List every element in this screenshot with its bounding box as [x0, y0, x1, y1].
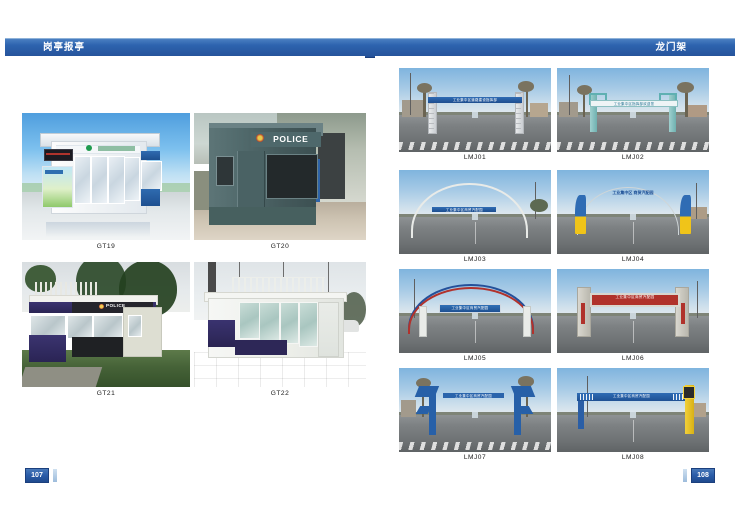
gantry-sign-text: 工业集中区商贸汽配园 [432, 207, 496, 212]
photo-lmj07[interactable]: 工业集中区商贸汽配园 [399, 368, 551, 452]
lane-marking [475, 222, 476, 244]
caption-gt20: GT20 [194, 243, 366, 250]
roadside-building [688, 105, 708, 117]
footer-rule-left [53, 469, 57, 482]
header-band: 岗亭报亭 龙门架 [5, 38, 735, 58]
crane-cable [283, 262, 284, 278]
gantry-stripe-right [673, 394, 684, 400]
utility-pole [697, 281, 698, 318]
gantry-beam: 工业集中区道路建设指挥部 [428, 97, 522, 102]
gantry-post-accent-left [581, 303, 585, 325]
photo-gt22[interactable] [194, 262, 366, 387]
kiosk-glass [259, 302, 280, 342]
signal-head-icon [683, 386, 695, 398]
caption-lmj03: LMJ03 [399, 256, 551, 263]
right-page-header-title: 龙门架 [655, 39, 687, 57]
pathway [22, 367, 103, 387]
left-page-header-title: 岗亭报亭 [43, 39, 85, 57]
photo-image-lmj08: 工业集中区商贸汽配园 [557, 368, 709, 452]
caption-lmj04: LMJ04 [557, 256, 709, 263]
kiosk-blue-base [141, 189, 159, 206]
kiosk-dark-base [72, 337, 122, 357]
photo-lmj01[interactable]: 工业集中区道路建设指挥部 [399, 68, 551, 152]
caption-lmj06: LMJ06 [557, 355, 709, 362]
photo-lmj08[interactable]: 工业集中区商贸汽配园 [557, 368, 709, 452]
roadside-building [401, 400, 416, 417]
kiosk-glass [67, 315, 93, 340]
booth-sign-text: POLICE [273, 134, 308, 144]
catalog-spread: 岗亭报亭 龙门架 GT19 [0, 0, 740, 506]
footer-rule-right [683, 469, 687, 482]
lane-marking [633, 222, 634, 244]
roadside-building [530, 103, 548, 116]
gantry-pylon-left [417, 386, 437, 435]
gantry-sign-text: 工业集中区 商贸汽配园 [593, 190, 672, 198]
roadside-building [402, 100, 423, 117]
kiosk-purple-base [235, 340, 287, 355]
gantry-post-right [523, 306, 531, 337]
caption-lmj02: LMJ02 [557, 154, 709, 161]
vanishing-point [472, 112, 478, 119]
ground-reflection [46, 222, 150, 237]
gantry-wing-right [680, 195, 691, 234]
gantry-beam: 工业集中区商贸汽配园 [432, 207, 496, 212]
kiosk-blue-sign [141, 151, 159, 160]
caption-gt22: GT22 [194, 390, 366, 397]
kiosk-purple-panel [208, 320, 236, 348]
kiosk-glass [91, 156, 108, 204]
left-page-number: 107 [25, 468, 49, 483]
utility-pole [410, 73, 411, 115]
kiosk-purple-base [29, 335, 66, 363]
gantry-beam: 工业集中区商贸汽配园 [590, 293, 679, 307]
photo-image-lmj03: 工业集中区商贸汽配园 [399, 170, 551, 254]
kiosk-logo-text [98, 146, 135, 151]
crosswalk [399, 442, 551, 450]
photo-image-lmj04: 工业集中区 商贸汽配园 [557, 170, 709, 254]
photo-image-lmj07: 工业集中区商贸汽配园 [399, 368, 551, 452]
gantry-beam: 工业集中区商贸汽配园 [443, 393, 504, 398]
caption-lmj01: LMJ01 [399, 154, 551, 161]
vanishing-point [630, 313, 636, 320]
photo-gt20[interactable]: POLICE [194, 113, 366, 240]
photo-lmj05[interactable]: 工业集中区商贸汽配园 [399, 269, 551, 353]
background-opening [318, 133, 346, 199]
caption-lmj08: LMJ08 [557, 454, 709, 461]
right-page-number: 108 [691, 468, 715, 483]
booth-window [266, 154, 318, 199]
vanishing-point [472, 412, 478, 419]
crane-cable [328, 262, 329, 293]
photo-image-gt19 [22, 113, 190, 240]
photo-image-gt20: POLICE [194, 113, 366, 240]
crosswalk [399, 142, 551, 150]
kiosk-glass [280, 302, 299, 344]
photo-image-lmj05: 工业集中区商贸汽配园 [399, 269, 551, 353]
crosswalk [557, 142, 709, 150]
police-badge-icon [256, 134, 264, 142]
kiosk-led-display [44, 149, 73, 161]
tree-crown [530, 199, 548, 212]
photo-lmj06[interactable]: 工业集中区商贸汽配园 [557, 269, 709, 353]
gantry-post-left [419, 306, 427, 337]
caption-lmj07: LMJ07 [399, 454, 551, 461]
tree-crown [677, 82, 694, 93]
utility-pole [569, 75, 570, 115]
gantry-sign-text: 工业集中区商贸汽配园 [443, 393, 504, 398]
photo-gt19[interactable] [22, 113, 190, 240]
footer: 107 108 [5, 468, 735, 492]
tree-crown [518, 81, 535, 92]
vanishing-point [630, 112, 636, 119]
kiosk-poster [42, 166, 73, 207]
gantry-beam: 工业集中区商贸汽配园 [439, 304, 502, 313]
photo-image-lmj06: 工业集中区商贸汽配园 [557, 269, 709, 353]
gantry-wing-left [575, 195, 586, 234]
gantry-pylon-right [513, 386, 533, 435]
photo-lmj02[interactable]: 工业集中区指挥部欢迎您 [557, 68, 709, 152]
photo-lmj03[interactable]: 工业集中区商贸汽配园 [399, 170, 551, 254]
kiosk-glass [108, 156, 125, 204]
kiosk-glass [239, 302, 260, 339]
gantry-sign-text: 工业集中区商贸汽配园 [592, 295, 677, 300]
gantry-post-accent-right [681, 303, 685, 325]
lane-marking [633, 420, 634, 442]
kiosk-glass [128, 315, 142, 337]
photo-lmj04[interactable]: 工业集中区 商贸汽配园 [557, 170, 709, 254]
kiosk-glass [124, 157, 139, 201]
caption-lmj05: LMJ05 [399, 355, 551, 362]
kiosk-glass [93, 315, 124, 340]
caption-gt19: GT19 [22, 243, 190, 250]
vanishing-point [630, 412, 636, 419]
photo-image-lmj02: 工业集中区指挥部欢迎您 [557, 68, 709, 152]
kiosk-glass [74, 156, 91, 204]
lane-marking [475, 321, 476, 343]
lane-marking [633, 321, 634, 343]
photo-image-gt21: POLICE [22, 262, 190, 387]
photo-gt21[interactable]: POLICE [22, 262, 190, 387]
gantry-sign-text: 工业集中区道路建设指挥部 [428, 97, 522, 102]
light-pole [696, 183, 697, 218]
kiosk-glass [141, 161, 161, 191]
gantry-sign-text: 工业集中区指挥部欢迎您 [591, 101, 676, 106]
kiosk-door [318, 302, 339, 357]
gantry-stripe-left [580, 394, 594, 400]
photo-image-gt22 [194, 262, 366, 387]
gantry-beam: 工业集中区指挥部欢迎您 [590, 100, 677, 107]
kiosk-glass [299, 302, 318, 347]
gantry-sign-text: 工业集中区商贸汽配园 [440, 305, 501, 310]
photo-image-lmj01: 工业集中区道路建设指挥部 [399, 68, 551, 152]
gantry-post-left [578, 401, 583, 430]
caption-gt21: GT21 [22, 390, 190, 397]
booth-side-window [216, 156, 233, 186]
booth-base [209, 207, 316, 225]
